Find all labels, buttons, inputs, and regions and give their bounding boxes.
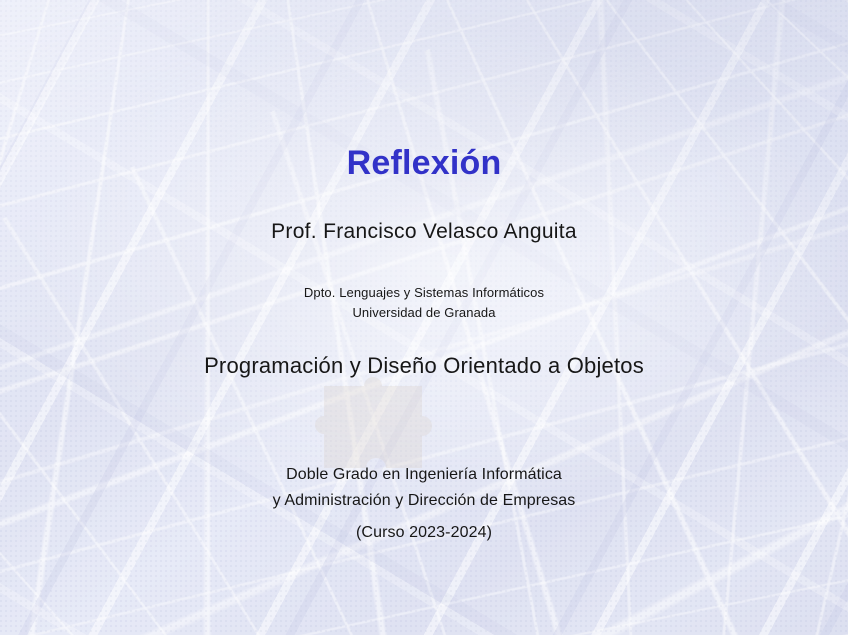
- affiliation-block: Dpto. Lenguajes y Sistemas Informáticos …: [0, 283, 848, 323]
- presentation-slide: Reflexión Prof. Francisco Velasco Anguit…: [0, 0, 848, 635]
- academic-year: (Curso 2023-2024): [0, 520, 848, 546]
- degree-block: Doble Grado en Ingeniería Informática y …: [0, 462, 848, 546]
- slide-content: Reflexión Prof. Francisco Velasco Anguit…: [0, 0, 848, 635]
- affiliation-department: Dpto. Lenguajes y Sistemas Informáticos: [0, 283, 848, 303]
- course-title: Programación y Diseño Orientado a Objeto…: [0, 353, 848, 379]
- degree-line-2: y Administración y Dirección de Empresas: [0, 488, 848, 514]
- author-name: Prof. Francisco Velasco Anguita: [0, 219, 848, 244]
- degree-line-1: Doble Grado en Ingeniería Informática: [0, 462, 848, 488]
- page-title: Reflexión: [0, 145, 848, 182]
- affiliation-institution: Universidad de Granada: [0, 303, 848, 323]
